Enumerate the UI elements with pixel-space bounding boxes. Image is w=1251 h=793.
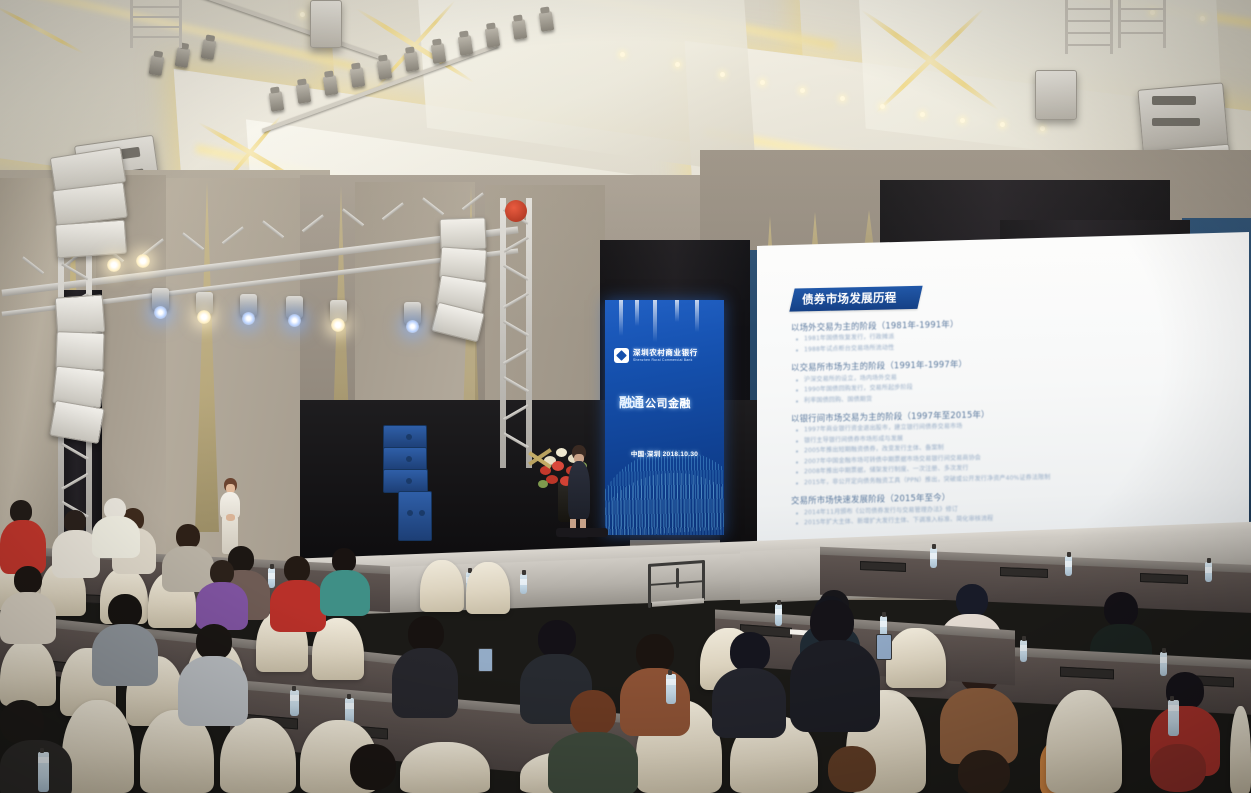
projection-screen: 债券市场发展历程 以场外交易为主的阶段（1981年-1991年） 1981年国债… xyxy=(757,232,1249,564)
water-bottle xyxy=(520,574,527,594)
audience-chair xyxy=(420,560,464,612)
audience-member xyxy=(0,566,56,636)
ceiling-spotlight xyxy=(539,11,555,32)
water-bottle xyxy=(38,752,49,792)
light-beam xyxy=(136,254,150,268)
audience-member xyxy=(0,500,46,570)
audience-member xyxy=(392,616,458,710)
light-beam xyxy=(107,258,121,272)
audience-chair xyxy=(0,640,56,706)
audience-member xyxy=(712,632,786,732)
audience-member xyxy=(1130,744,1226,793)
slide-section: 以银行间市场交易为主的阶段（1997年至2015年） 1997年商业银行资金退出… xyxy=(791,404,1223,489)
water-bottle xyxy=(1065,556,1072,576)
water-bottle xyxy=(666,674,676,704)
slide-title: 债券市场发展历程 xyxy=(802,289,896,307)
light-beam xyxy=(197,310,211,324)
bank-name-cn: 深圳农村商业银行 xyxy=(633,349,698,357)
light-beam xyxy=(406,320,419,333)
audience-member xyxy=(0,700,72,793)
scissor-lift-mount xyxy=(1065,0,1113,54)
bank-logo: 深圳农村商业银行 Shenzhen Rural Commercial Bank xyxy=(614,348,698,363)
slide-title-bar: 债券市场发展历程 xyxy=(789,286,922,312)
audience-chair xyxy=(466,562,510,614)
stage-led-banner: 深圳农村商业银行 Shenzhen Rural Commercial Bank … xyxy=(605,300,724,535)
stage-riser xyxy=(556,528,608,537)
banner-subtitle-prefix: 融通 xyxy=(619,392,643,411)
slide-section: 交易所市场快速发展阶段（2015年至今） 2014年11月颁布《公司债券发行与交… xyxy=(791,486,1223,529)
banner-subtitle: 融通 公司金融 xyxy=(619,392,691,411)
ceiling-spotlight xyxy=(296,83,312,104)
smartphone xyxy=(478,648,493,672)
slide-section: 以交易所市场为主的阶段（1991年-1997年） 沪深交易所的设立，场内场外交易… xyxy=(791,353,1223,406)
audience-member xyxy=(940,750,1028,793)
stage-speaker xyxy=(383,469,428,493)
water-bottle xyxy=(775,604,782,626)
slide-bullet-list: 1997年商业银行资金退出股市，建立银行间债券交易市场 银行主导银行间债券市场形… xyxy=(804,417,1223,489)
audience-member xyxy=(548,690,638,793)
presenter xyxy=(566,445,592,537)
audience-member xyxy=(270,556,326,624)
truss-hoist xyxy=(505,200,527,222)
water-bottle xyxy=(1020,640,1027,662)
stage-speaker xyxy=(398,491,432,541)
audience-chair xyxy=(1230,706,1251,793)
truss-tower xyxy=(500,198,506,468)
line-array-speaker xyxy=(55,294,106,335)
ceiling-spotlight xyxy=(377,59,393,80)
hostess xyxy=(216,478,244,556)
light-beam xyxy=(154,306,167,319)
bank-logo-icon xyxy=(614,348,629,363)
ceiling-spotlight xyxy=(485,27,501,48)
slide-content: 债券市场发展历程 以场外交易为主的阶段（1981年-1991年） 1981年国债… xyxy=(783,279,1223,539)
water-bottle xyxy=(1205,562,1212,582)
banner-subtitle-main: 公司金融 xyxy=(645,395,691,411)
ceiling-projector xyxy=(310,0,342,48)
audience-chair xyxy=(1046,690,1122,793)
audience-member xyxy=(810,746,894,793)
ceiling-spotlight xyxy=(404,51,420,72)
line-array-speaker xyxy=(439,217,486,251)
ceiling-projector xyxy=(1035,70,1077,120)
ceiling-spotlight xyxy=(431,43,447,64)
audience-member xyxy=(178,624,248,718)
audience-member xyxy=(320,548,370,610)
water-bottle xyxy=(930,548,937,568)
audience-member xyxy=(92,594,158,680)
water-bottle xyxy=(1168,700,1179,736)
table-pad xyxy=(860,561,906,572)
water-bottle xyxy=(290,690,299,716)
audience-chair xyxy=(886,628,946,688)
slide-body: 以场外交易为主的阶段（1981年-1991年） 1981年国债恢复发行，行政摊派… xyxy=(783,313,1223,529)
audience-member xyxy=(196,560,248,624)
ceiling-spotlight xyxy=(269,91,285,112)
stage-stairs xyxy=(648,560,728,614)
ceiling-spotlight xyxy=(458,35,474,56)
line-array-speaker xyxy=(55,220,127,259)
audience-chair xyxy=(62,700,134,793)
conference-hall-photo: 深圳农村商业银行 Shenzhen Rural Commercial Bank … xyxy=(0,0,1251,793)
bank-name-en: Shenzhen Rural Commercial Bank xyxy=(633,359,698,362)
audience-member xyxy=(92,498,140,554)
scissor-lift-mount xyxy=(130,0,182,48)
smartphone xyxy=(876,634,892,660)
line-array-speaker xyxy=(55,331,104,371)
stage-speaker xyxy=(383,447,427,471)
ceiling-spotlight xyxy=(350,67,366,88)
audience-member xyxy=(330,744,416,793)
ceiling-spotlight xyxy=(512,19,528,40)
banner-location-date: 中国·深圳 2018.10.30 xyxy=(605,448,724,458)
stage-speaker xyxy=(383,425,427,449)
light-beam xyxy=(331,318,345,332)
ceiling-spotlight xyxy=(323,75,339,96)
audience-chair xyxy=(220,718,296,793)
light-beam xyxy=(242,312,255,325)
light-beam xyxy=(288,314,301,327)
audience-member-photographing xyxy=(790,600,880,730)
scissor-lift-mount xyxy=(1118,0,1166,48)
slide-section: 以场外交易为主的阶段（1981年-1991年） 1981年国债恢复发行，行政摊派… xyxy=(791,313,1223,356)
